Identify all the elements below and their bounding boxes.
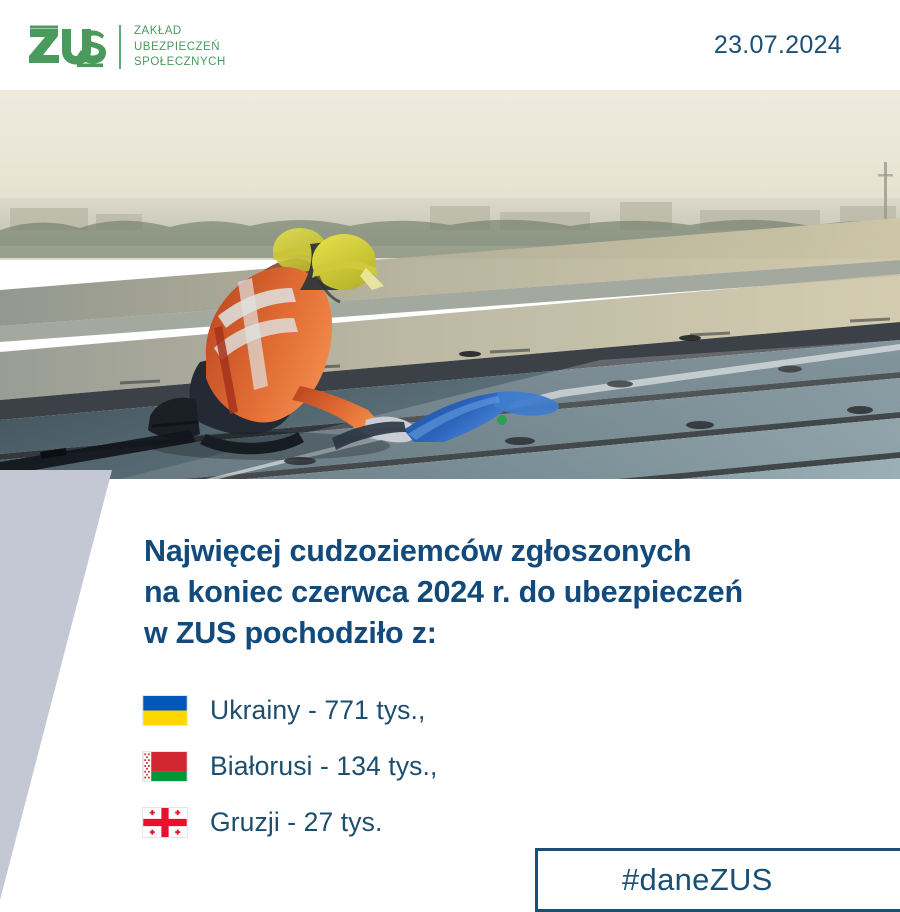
page-header: ZAKŁAD UBEZPIECZEŃ SPOŁECZNYCH 23.07.202…: [0, 0, 900, 90]
country-list: Ukrainy - 771 tys.,: [142, 687, 437, 855]
belarus-flag-icon: [142, 751, 188, 782]
list-item-label: Ukrainy - 771 tys.,: [210, 695, 425, 726]
logo-divider: [119, 25, 121, 69]
list-item: Ukrainy - 771 tys.,: [142, 687, 437, 734]
list-item: Białorusi - 134 tys.,: [142, 743, 437, 790]
zus-logo[interactable]: ZAKŁAD UBEZPIECZEŃ SPOŁECZNYCH: [28, 24, 226, 70]
hashtag-badge: #daneZUS: [535, 848, 900, 912]
headline-line-3: w ZUS pochodziło z:: [144, 613, 884, 654]
logo-line-3: SPOŁECZNYCH: [134, 55, 226, 70]
headline-line-1: Najwięcej cudzoziemców zgłoszonych: [144, 531, 884, 572]
content-area: Najwięcej cudzoziemców zgłoszonych na ko…: [0, 479, 900, 900]
hero-photo: [0, 90, 900, 479]
page-title: Najwięcej cudzoziemców zgłoszonych na ko…: [144, 531, 884, 654]
hero-photo-illustration: [0, 90, 900, 479]
list-item-label: Białorusi - 134 tys.,: [210, 751, 437, 782]
logo-line-1: ZAKŁAD: [134, 24, 226, 39]
list-item: Gruzji - 27 tys.: [142, 799, 437, 846]
hashtag-label: #daneZUS: [622, 862, 773, 898]
logo-wordmark: ZAKŁAD UBEZPIECZEŃ SPOŁECZNYCH: [134, 24, 226, 70]
ukraine-flag-icon: [142, 695, 188, 726]
headline-line-2: na koniec czerwca 2024 r. do ubezpieczeń: [144, 572, 884, 613]
georgia-flag-icon: [142, 807, 188, 838]
list-item-label: Gruzji - 27 tys.: [210, 807, 382, 838]
zus-logo-mark: [28, 25, 106, 69]
logo-line-2: UBEZPIECZEŃ: [134, 40, 226, 55]
publication-date: 23.07.2024: [714, 31, 842, 60]
